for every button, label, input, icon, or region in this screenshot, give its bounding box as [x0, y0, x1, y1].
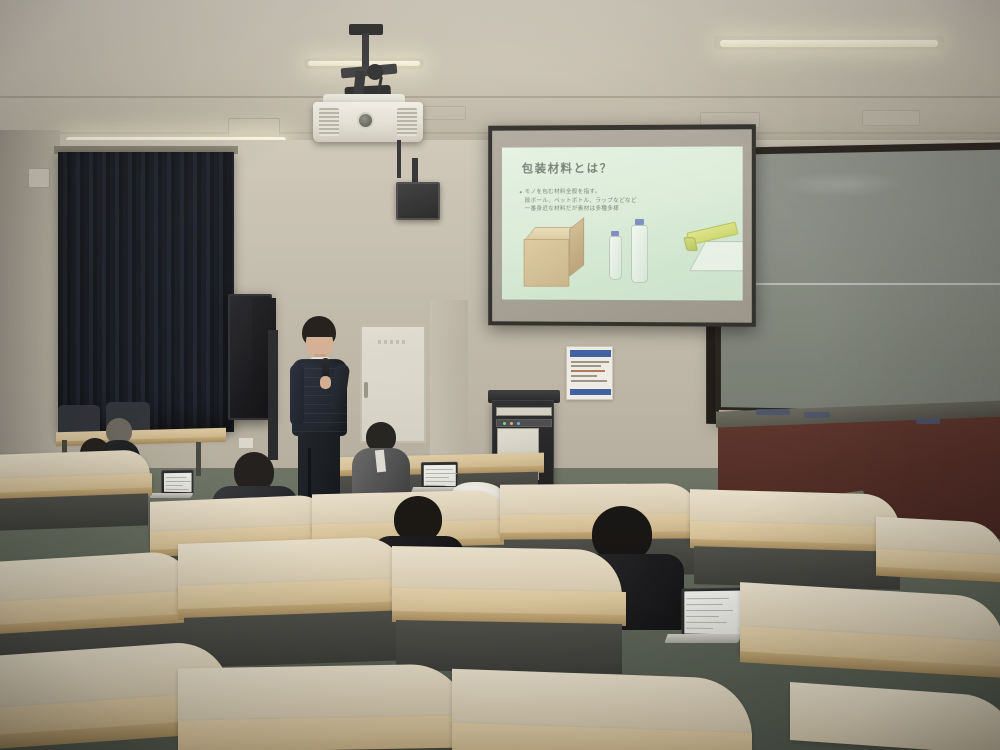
blackboard — [715, 142, 1000, 426]
projector-vent-left — [319, 108, 339, 136]
presenter-fringe — [304, 324, 335, 337]
wall-power-socket — [238, 437, 254, 449]
ceiling-projector — [305, 24, 430, 149]
laptop-back-left[interactable] — [150, 470, 194, 500]
projector-pole-lower — [397, 140, 401, 178]
slide-cardboard-box-icon — [524, 227, 585, 287]
slide-bullet-line-1: モノを包む材料全般を指す。 — [520, 188, 730, 197]
wall-box-icon — [28, 168, 50, 188]
display-support-post — [268, 330, 278, 460]
blackboard-panel-seam — [721, 283, 1000, 285]
door-handle-icon[interactable] — [364, 382, 368, 398]
wall-notice-poster — [566, 346, 613, 400]
ceiling-seam — [0, 96, 1000, 98]
speaker-bracket — [412, 158, 418, 184]
blackboard-surface — [721, 149, 1000, 412]
projected-slide: 包装材料とは？ モノを包む材料全般を指す。 段ボール、ペットボトル、ラップなどな… — [502, 146, 743, 300]
presenter-arm-left — [290, 364, 304, 426]
projection-screen: 包装材料とは？ モノを包む材料全般を指す。 段ボール、ペットボトル、ラップなどな… — [488, 124, 756, 327]
slide-body-text: モノを包む材料全般を指す。 段ボール、ペットボトル、ラップなどなど 一番身近な材… — [520, 188, 730, 214]
projection-screen-surface: 包装材料とは？ モノを包む材料全般を指す。 段ボール、ペットボトル、ラップなどな… — [492, 129, 752, 322]
ceiling-vent-far-right — [862, 110, 920, 126]
slide-title: 包装材料とは？ — [522, 160, 613, 176]
pet-bottle-small — [609, 236, 622, 280]
lectern-item — [916, 418, 940, 424]
slide-pet-bottles-icon — [605, 217, 667, 289]
blackout-curtain — [58, 152, 234, 432]
attendee-4 — [352, 422, 410, 494]
rack-unit — [496, 407, 552, 416]
laptop-front-center[interactable] — [666, 588, 744, 646]
slide-plastic-wrap-icon — [687, 225, 743, 277]
lecture-hall-photo: 包装材料とは？ モノを包む材料全般を指す。 段ボール、ペットボトル、ラップなどな… — [0, 0, 1000, 750]
lectern-item — [756, 409, 790, 415]
lectern-item — [804, 412, 830, 418]
blackboard-glare — [781, 170, 904, 198]
ceiling-light-tube-right — [720, 40, 938, 47]
poster-header-bar — [570, 350, 611, 357]
presenter-hand — [320, 376, 331, 389]
wall-speaker-icon — [396, 182, 440, 220]
pet-bottle-large — [631, 225, 648, 283]
slide-bullet-line-2: 段ボール、ペットボトル、ラップなどなど — [520, 196, 730, 205]
projector-lens — [357, 112, 374, 129]
door-vent-icon — [378, 340, 406, 344]
projector-vent-right — [397, 108, 417, 136]
slide-bullet-line-3: 一番身近な材料だが素材は多種多様 — [520, 205, 730, 214]
